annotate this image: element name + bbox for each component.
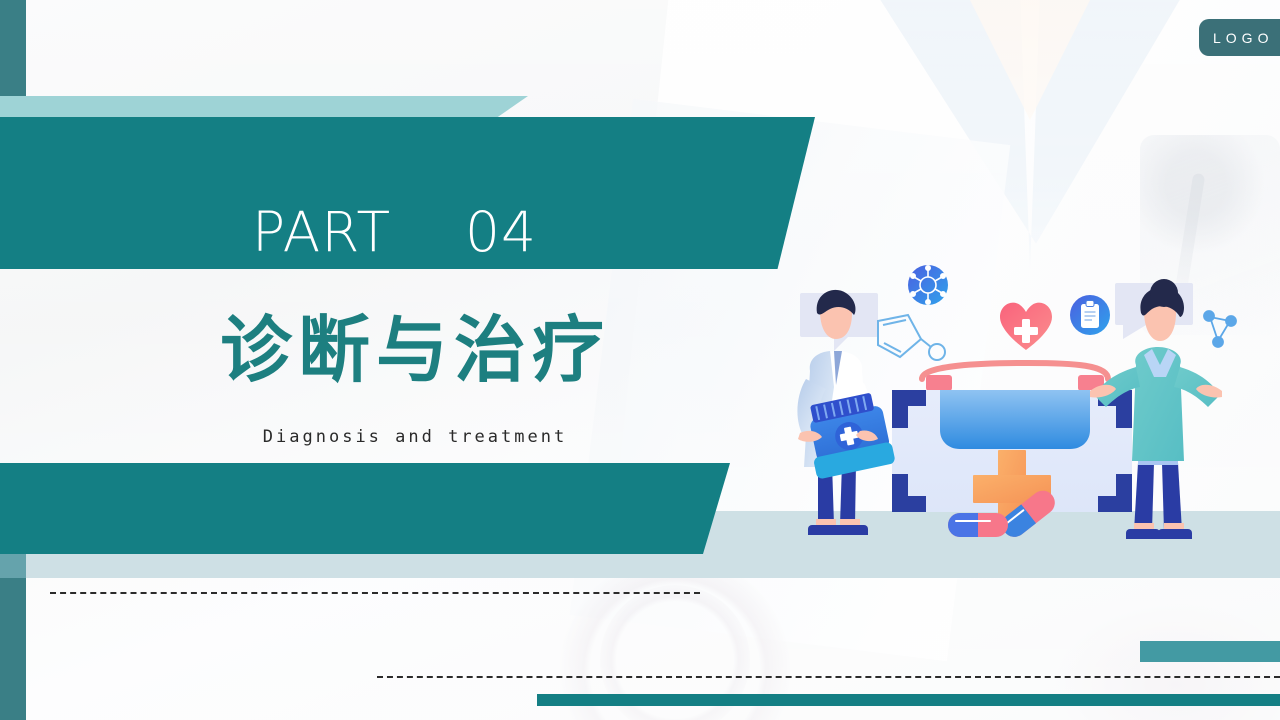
medical-illustration — [760, 255, 1280, 555]
virus-icon — [908, 265, 948, 305]
molecule-icon — [878, 315, 945, 360]
page-subtitle: Diagnosis and treatment — [0, 425, 830, 449]
dashed-line-upper — [50, 592, 700, 594]
bottom-teal-band — [0, 463, 730, 554]
part-number: PART 04 — [252, 200, 537, 264]
logo-badge[interactable]: LOGO — [1199, 19, 1280, 56]
slide-root: LOGO PART 04 诊断与治疗 Diagnosis and treatme… — [0, 0, 1280, 720]
left-edge-bar-mid — [0, 554, 26, 578]
logo-text: LOGO — [1213, 30, 1273, 46]
bottom-accent-bar — [537, 694, 1280, 706]
clipboard-icon — [1070, 295, 1110, 335]
dashed-line-lower — [377, 676, 1280, 678]
triangle-molecule-icon — [1204, 311, 1236, 347]
right-accent-bar — [1140, 641, 1280, 662]
page-title: 诊断与治疗 — [0, 306, 830, 394]
left-edge-bar-bottom — [0, 578, 26, 720]
left-edge-bar-top — [0, 0, 26, 96]
light-teal-band — [0, 96, 528, 118]
heart-cross-icon — [1000, 303, 1052, 350]
